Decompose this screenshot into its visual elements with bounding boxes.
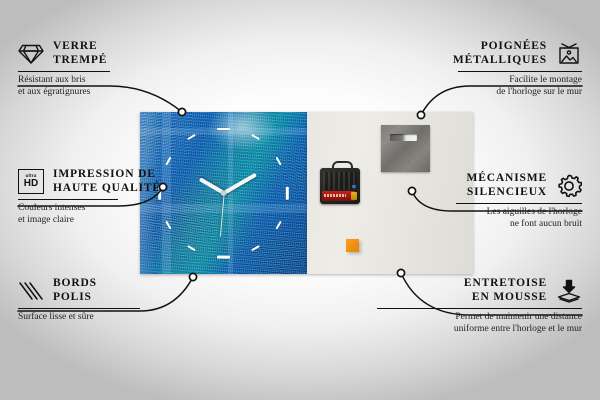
callout-title: BORDSPOLIS bbox=[53, 277, 97, 304]
callout-rule bbox=[458, 71, 582, 72]
callout-title: MÉCANISMESILENCIEUX bbox=[467, 172, 548, 199]
callout-header: VERRETREMPÉ bbox=[18, 40, 233, 67]
picture-hanger-icon bbox=[556, 41, 582, 67]
callout-rule bbox=[18, 308, 140, 309]
callout-header: MÉCANISMESILENCIEUX bbox=[367, 172, 582, 199]
polished-edges-icon bbox=[18, 278, 44, 304]
callout-rule bbox=[18, 199, 118, 200]
callout-description: Résistant aux briset aux égratignures bbox=[18, 75, 233, 98]
callout-description: Surface lisse et sûre bbox=[18, 312, 233, 324]
callout-rule bbox=[456, 203, 582, 204]
callout-entretoise-en-mousse[interactable]: ENTRETOISEEN MOUSSE Permet de maintenir … bbox=[367, 277, 582, 335]
gear-icon bbox=[556, 173, 582, 199]
callout-rule bbox=[377, 308, 582, 309]
ultra-hd-icon: ultra HD bbox=[18, 169, 44, 195]
callout-title: POIGNÉESMÉTALLIQUES bbox=[453, 40, 547, 67]
infographic-canvas: VERRETREMPÉ Résistant aux briset aux égr… bbox=[0, 0, 600, 400]
callout-header: ultra HD IMPRESSION DEHAUTE QUALITÉ bbox=[18, 168, 233, 195]
connector-dot bbox=[397, 269, 404, 276]
connector-dot bbox=[417, 111, 424, 118]
callout-header: POIGNÉESMÉTALLIQUES bbox=[367, 40, 582, 67]
callout-mecanisme-silencieux[interactable]: MÉCANISMESILENCIEUX Les aiguilles de l'h… bbox=[367, 172, 582, 230]
foam-spacer-icon bbox=[556, 278, 582, 304]
callout-verre-trempe[interactable]: VERRETREMPÉ Résistant aux briset aux égr… bbox=[18, 40, 233, 98]
callout-poignees-metalliques[interactable]: POIGNÉESMÉTALLIQUES Facilite le montaged… bbox=[367, 40, 582, 98]
callout-description: Les aiguilles de l'horlogene font aucun … bbox=[367, 207, 582, 230]
callout-title: ENTRETOISEEN MOUSSE bbox=[464, 277, 547, 304]
callout-description: Couleurs intenseset image claire bbox=[18, 203, 233, 226]
callout-impression-haute-qualite[interactable]: ultra HD IMPRESSION DEHAUTE QUALITÉ Coul… bbox=[18, 168, 233, 226]
callout-rule bbox=[18, 71, 110, 72]
callout-header: BORDSPOLIS bbox=[18, 277, 233, 304]
callout-title: IMPRESSION DEHAUTE QUALITÉ bbox=[53, 168, 161, 195]
callout-bords-polis[interactable]: BORDSPOLIS Surface lisse et sûre bbox=[18, 277, 233, 324]
connector-dot bbox=[178, 108, 185, 115]
hd-badge-main: HD bbox=[24, 179, 38, 189]
callout-header: ENTRETOISEEN MOUSSE bbox=[367, 277, 582, 304]
callout-description: Facilite le montagede l'horloge sur le m… bbox=[367, 75, 582, 98]
callout-title: VERRETREMPÉ bbox=[53, 40, 107, 67]
callout-description: Permet de maintenir une distanceuniforme… bbox=[367, 312, 582, 335]
diamond-icon bbox=[18, 41, 44, 67]
